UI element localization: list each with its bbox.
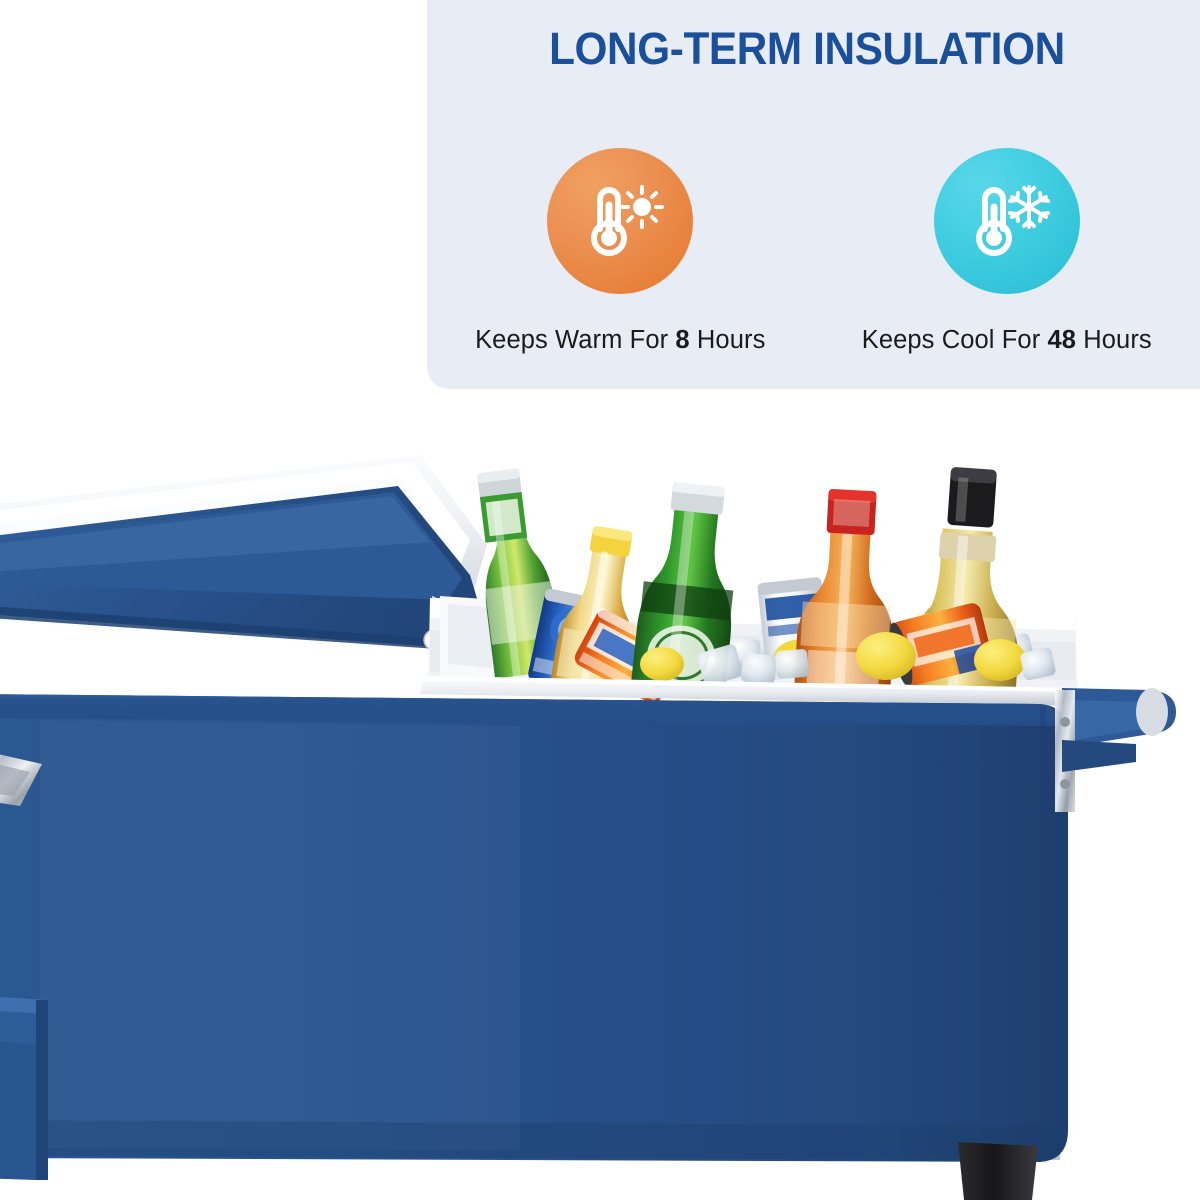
insulation-feature-panel: LONG-TERM INSULATION bbox=[427, 0, 1200, 389]
cooler-contents bbox=[470, 465, 1057, 707]
thermometer-snowflake-icon bbox=[934, 148, 1080, 294]
lower-shelf-bracket bbox=[0, 996, 48, 1180]
thermometer-sun-icon bbox=[547, 148, 693, 294]
cooler-body bbox=[0, 694, 1068, 1162]
badge-caption-warm: Keeps Warm For 8 Hours bbox=[475, 325, 765, 355]
badge-keeps-warm: Keeps Warm For 8 Hours bbox=[450, 148, 790, 355]
caption-value-cool: 48 bbox=[1047, 326, 1076, 354]
page-title: LONG-TERM INSULATION bbox=[450, 23, 1177, 75]
cooler-lid bbox=[0, 455, 487, 650]
caption-prefix-cool: Keeps Cool For bbox=[862, 326, 1048, 354]
caption-prefix-warm: Keeps Warm For bbox=[475, 326, 675, 354]
caption-suffix-cool: Hours bbox=[1076, 326, 1152, 354]
caption-value-warm: 8 bbox=[675, 326, 689, 354]
caption-suffix-warm: Hours bbox=[690, 326, 766, 354]
side-handle-right bbox=[1055, 688, 1176, 812]
badge-caption-cool: Keeps Cool For 48 Hours bbox=[862, 325, 1152, 355]
cooler-leg bbox=[958, 1142, 1038, 1200]
badge-keeps-cool: Keeps Cool For 48 Hours bbox=[837, 148, 1177, 355]
badge-row: Keeps Warm For 8 Hours bbox=[427, 148, 1200, 355]
